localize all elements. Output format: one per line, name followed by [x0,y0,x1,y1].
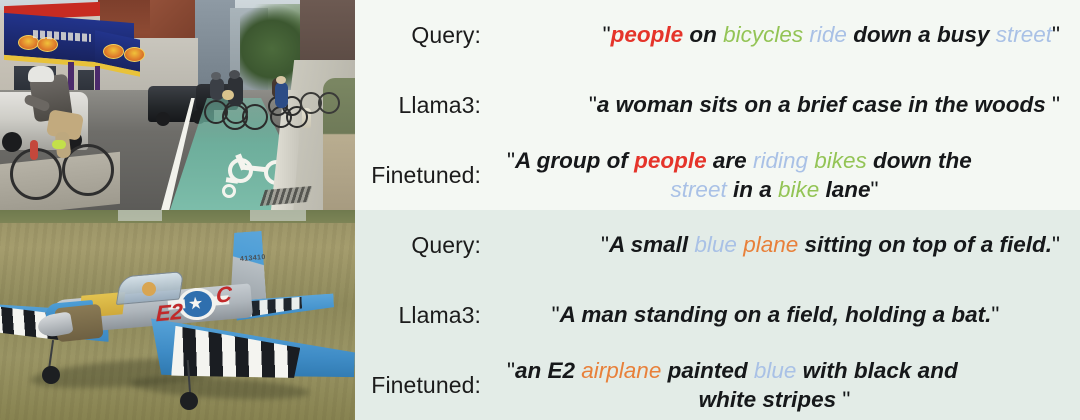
side-code-marking: C [216,283,232,307]
query-row: Query: "A small blue plane sitting on to… [355,210,1060,280]
nose-code-marking: E2 [156,301,183,325]
row-label: Finetuned: [355,372,507,399]
llama3-text: "A man standing on a field, holding a ba… [507,300,1060,329]
example-1-captions: Query: "people on bicycles ride down a b… [355,0,1080,210]
row-label: Query: [355,232,507,259]
finetuned-text: "A group of people are riding bikes down… [507,146,1060,205]
llama3-text: "a woman sits on a brief case in the woo… [507,90,1060,119]
captions-column: Query: "people on bicycles ride down a b… [355,0,1080,420]
llama3-row: Llama3: "a woman sits on a brief case in… [355,70,1060,140]
white-star-icon: ★ [187,294,204,312]
background-object [118,210,162,221]
background-object [250,210,306,221]
row-label: Llama3: [355,302,507,329]
awning-logo-icon [103,44,124,59]
finetuned-text: "an E2 airplane painted blue with black … [507,356,1060,415]
row-label: Finetuned: [355,162,507,189]
query-text: "A small blue plane sitting on top of a … [507,230,1060,259]
llama3-row: Llama3: "A man standing on a field, hold… [355,280,1060,350]
finetuned-row: Finetuned: "A group of people are riding… [355,140,1060,210]
query-row: Query: "people on bicycles ride down a b… [355,0,1060,70]
row-label: Query: [355,22,507,49]
city-street-bike-lane-photo [0,0,355,210]
blue-model-airplane-photo: 413410 ★ E2 C [0,210,355,420]
car-wheel [2,132,22,152]
finetuned-row: Finetuned: "an E2 airplane painted blue … [355,350,1060,420]
example-2-captions: Query: "A small blue plane sitting on to… [355,210,1080,420]
bicycle-lane-symbol [222,184,236,198]
row-label: Llama3: [355,92,507,119]
query-text: "people on bicycles ride down a busy str… [507,20,1060,49]
tail-gear-wheel [180,392,198,410]
landing-gear-wheel [42,366,60,384]
image-column: 413410 ★ E2 C [0,0,355,420]
awning-logo-icon [124,47,145,62]
comparison-figure: 413410 ★ E2 C [0,0,1080,420]
car-wheel [156,112,170,126]
